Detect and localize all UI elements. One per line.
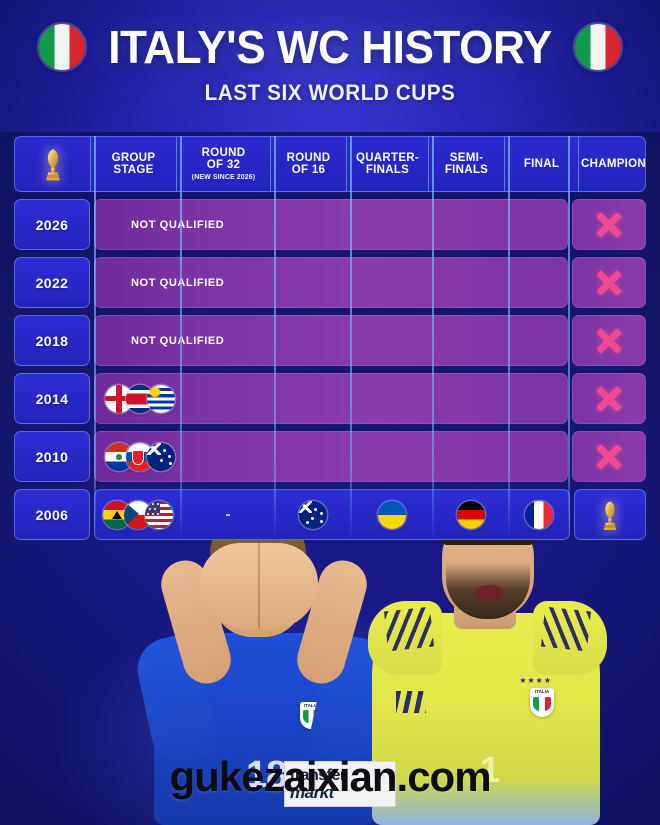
column-header-champion: CHAMPION: [579, 137, 646, 191]
cross-icon: [595, 269, 623, 297]
cell-semi-finals: [433, 501, 509, 529]
germany-flag-icon: [457, 501, 485, 529]
row-stage-cells: [94, 431, 568, 482]
cross-icon: [595, 385, 623, 413]
column-header-semi-finals: SEMI- FINALS: [429, 137, 505, 191]
col-line2: OF 32: [207, 159, 240, 171]
col-line1: CHAMPION: [581, 158, 646, 170]
row-year: 2018: [14, 315, 90, 366]
player-left-hand-gap: [258, 543, 260, 629]
column-header-quarter-finals: QUARTER- FINALS: [347, 137, 429, 191]
row-champion: [572, 199, 646, 250]
col-subnote: (NEW SINCE 2026): [192, 174, 255, 182]
row-stage-cells: -: [94, 489, 570, 540]
row-year: 2010: [14, 431, 90, 482]
table-header-row: GROUP STAGE ROUND OF 32 (NEW SINCE 2026)…: [14, 136, 646, 192]
table-row: 2018 NOT QUALIFIED: [14, 315, 646, 366]
round32-value: -: [226, 506, 231, 523]
site-watermark: gukezaixian.com: [0, 753, 660, 801]
col-line1: FINAL: [524, 158, 559, 170]
kit-brand-stripes-icon: [396, 691, 426, 713]
cross-icon: [595, 327, 623, 355]
italia-crest-icon: ITALIA: [530, 688, 554, 717]
row-status: NOT QUALIFIED: [94, 315, 568, 366]
column-header-round-of-16: ROUND OF 16: [271, 137, 347, 191]
group-stage-flags: [105, 443, 175, 471]
row-year: 2014: [14, 373, 90, 424]
cell-round-of-16: [275, 501, 351, 529]
italy-flag-icon-right: [575, 24, 621, 70]
col-line1: QUARTER-: [356, 152, 419, 164]
player-right-shoulder-stripes-left: [384, 607, 434, 652]
column-header-round-of-32: ROUND OF 32 (NEW SINCE 2026): [177, 137, 271, 191]
row-year: 2026: [14, 199, 90, 250]
row-year: 2022: [14, 257, 90, 308]
row-champion: [572, 257, 646, 308]
table-row: 2022 NOT QUALIFIED: [14, 257, 646, 308]
row-status: NOT QUALIFIED: [94, 199, 568, 250]
table-row: 2010: [14, 431, 646, 482]
row-champion: [574, 489, 646, 540]
italy-flag-icon-left: [39, 24, 85, 70]
table-row: 2006 -: [14, 489, 646, 540]
title-row: ITALY'S WC HISTORY: [0, 24, 660, 70]
col-line2: STAGE: [113, 164, 153, 176]
col-line1: GROUP: [112, 152, 156, 164]
wc-history-table: GROUP STAGE ROUND OF 32 (NEW SINCE 2026)…: [14, 136, 646, 540]
cross-icon: [595, 211, 623, 239]
col-line2: OF 16: [292, 164, 325, 176]
group-stage-flags: [105, 385, 175, 413]
table-row: 2026 NOT QUALIFIED: [14, 199, 646, 250]
col-line1: ROUND: [287, 152, 331, 164]
header: ITALY'S WC HISTORY LAST SIX WORLD CUPS: [0, 24, 660, 106]
column-header-final: FINAL: [505, 137, 579, 191]
page-subtitle: LAST SIX WORLD CUPS: [20, 80, 640, 106]
row-year: 2006: [14, 489, 90, 540]
ukraine-flag-icon: [378, 501, 406, 529]
cell-final: [509, 501, 569, 529]
col-line2: FINALS: [366, 164, 409, 176]
cell-quarter-finals: [351, 501, 433, 529]
crest-label: ITALIA: [530, 689, 554, 694]
uruguay-flag-icon: [147, 385, 175, 413]
cell-round-of-32: -: [181, 506, 275, 523]
row-stage-cells: [94, 373, 568, 424]
column-header-group-stage: GROUP STAGE: [91, 137, 177, 191]
page-title: ITALY'S WC HISTORY: [108, 24, 552, 70]
table-row: 2014: [14, 373, 646, 424]
row-champion: [572, 373, 646, 424]
col-line1: ROUND: [202, 147, 246, 159]
column-header-trophy: [15, 137, 91, 191]
row-status: NOT QUALIFIED: [94, 257, 568, 308]
col-line1: SEMI-: [450, 152, 483, 164]
four-stars-icon: ★★★★: [519, 676, 552, 685]
australia-flag-icon: [299, 501, 327, 529]
cell-group-stage: [95, 501, 181, 529]
player-right-mouth: [474, 585, 504, 601]
group-stage-flags: [103, 501, 173, 529]
col-line2: FINALS: [445, 164, 488, 176]
world-cup-trophy-icon: [41, 147, 65, 181]
cross-icon: [595, 443, 623, 471]
row-champion: [572, 315, 646, 366]
france-flag-icon: [525, 501, 553, 529]
usa-flag-icon: [145, 501, 173, 529]
world-cup-trophy-icon: [599, 499, 621, 531]
new-zealand-flag-icon: [147, 443, 175, 471]
row-champion: [572, 431, 646, 482]
player-right-shoulder-stripes-right: [541, 607, 591, 652]
